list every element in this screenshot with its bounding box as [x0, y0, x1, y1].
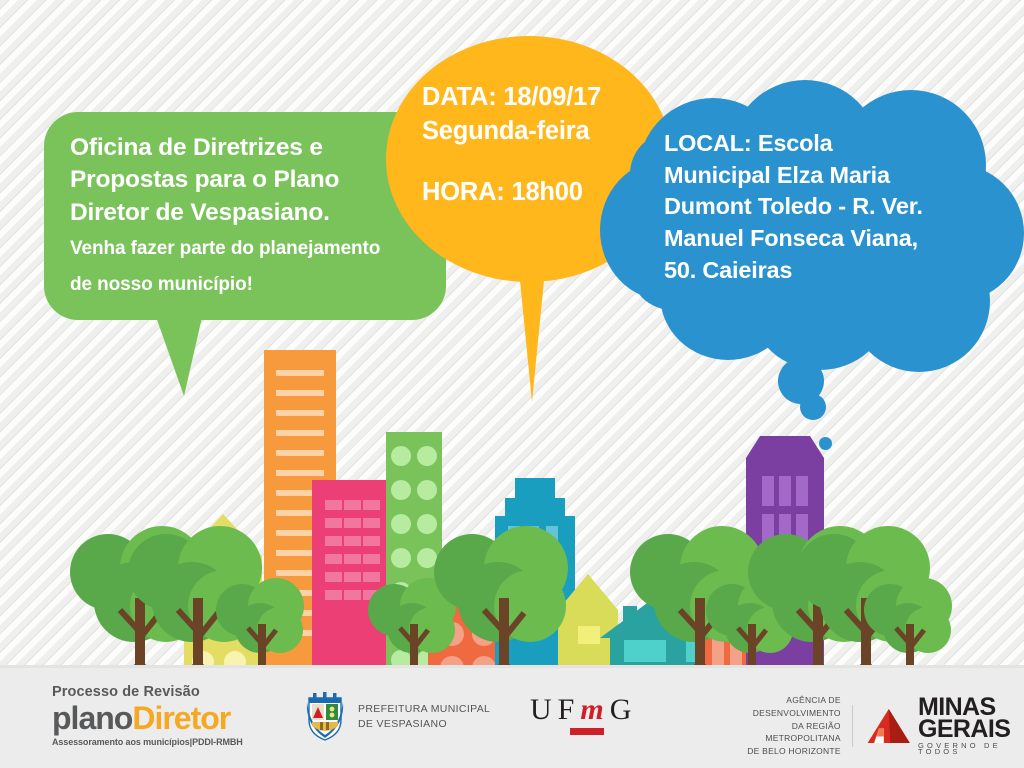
plano-diretor-wordmark: planoDiretor: [52, 702, 243, 736]
ufmg-letter-g: G: [610, 693, 638, 726]
ufmg-letter-f: F: [558, 693, 581, 726]
building-pink: [312, 480, 390, 668]
agencia-rmbh-text: AGÊNCIA DE DESENVOLVIMENTO DA REGIÃO MET…: [722, 694, 852, 758]
green-line-1: Oficina de Diretrizes e: [70, 132, 442, 164]
agencia-line-3: DE BELO HORIZONTE: [722, 745, 841, 758]
green-line-3: Diretor de Vespasiano.: [70, 197, 442, 229]
minas-gerais-logo: AGÊNCIA DE DESENVOLVIMENTO DA REGIÃO MET…: [722, 694, 1024, 758]
prefeitura-text: PREFEITURA MUNICIPAL DE VESPASIANO: [358, 702, 490, 732]
ufmg-red-bar: [570, 728, 604, 735]
blue-line-5: 50. Caieiras: [664, 255, 982, 287]
green-line-2: Propostas para o Plano: [70, 164, 442, 196]
minas-gerais-triangle-icon: [866, 703, 911, 749]
orange-date-line: DATA: 18/09/17: [422, 80, 658, 114]
orange-bubble-text: DATA: 18/09/17 Segunda-feira HORA: 18h00: [422, 80, 658, 209]
blue-bubble-dot-small: [819, 437, 832, 450]
blue-line-3: Dumont Toledo - R. Ver.: [664, 191, 982, 223]
ufmg-wordmark: UFmG: [530, 695, 637, 725]
blue-bubble-text: LOCAL: Escola Municipal Elza Maria Dumon…: [664, 128, 982, 287]
prefeitura-line-2: DE VESPASIANO: [358, 717, 490, 732]
ufmg-letter-u: U: [530, 693, 558, 726]
prefeitura-vespasiano-logo: PREFEITURA MUNICIPAL DE VESPASIANO: [303, 692, 490, 742]
plano-diretor-logo: Processo de Revisão planoDiretor Assesso…: [52, 684, 243, 747]
green-sub-2: de nosso município!: [70, 270, 442, 301]
ufmg-logo: UFmG: [530, 695, 637, 735]
minas-gerais-mark: MINAS GERAIS GOVERNO DE TODOS: [853, 696, 1024, 756]
agencia-line-1: AGÊNCIA DE DESENVOLVIMENTO: [722, 694, 841, 720]
plano-diretor-tagline-top: Processo de Revisão: [52, 684, 243, 701]
green-bubble-text: Oficina de Diretrizes e Propostas para o…: [70, 132, 442, 301]
blue-line-1: LOCAL: Escola: [664, 128, 982, 160]
minas-gerais-wordmark: MINAS GERAIS GOVERNO DE TODOS: [918, 696, 1024, 756]
green-sub-1: Venha fazer parte do planejamento: [70, 234, 442, 265]
minas-tagline: GOVERNO DE TODOS: [918, 743, 1024, 756]
diretor-word: Diretor: [132, 700, 230, 736]
ufmg-letter-m: m: [580, 693, 609, 726]
prefeitura-line-1: PREFEITURA MUNICIPAL: [358, 702, 490, 717]
orange-spacer: [422, 149, 658, 175]
blue-bubble-dot-medium: [800, 394, 826, 420]
orange-weekday-line: Segunda-feira: [422, 114, 658, 148]
orange-time-line: HORA: 18h00: [422, 175, 658, 209]
blue-line-2: Municipal Elza Maria: [664, 160, 982, 192]
poster-canvas: Oficina de Diretrizes e Propostas para o…: [0, 0, 1024, 768]
blue-line-4: Manuel Fonseca Viana,: [664, 223, 982, 255]
agencia-line-2: DA REGIÃO METROPOLITANA: [722, 720, 841, 746]
gerais-word: GERAIS: [918, 718, 1024, 740]
prefeitura-coat-of-arms-icon: [303, 692, 347, 742]
plano-word: plano: [52, 700, 132, 736]
plano-diretor-subtitle: Assessoramento aos municípios|PDDI-RMBH: [52, 737, 243, 747]
